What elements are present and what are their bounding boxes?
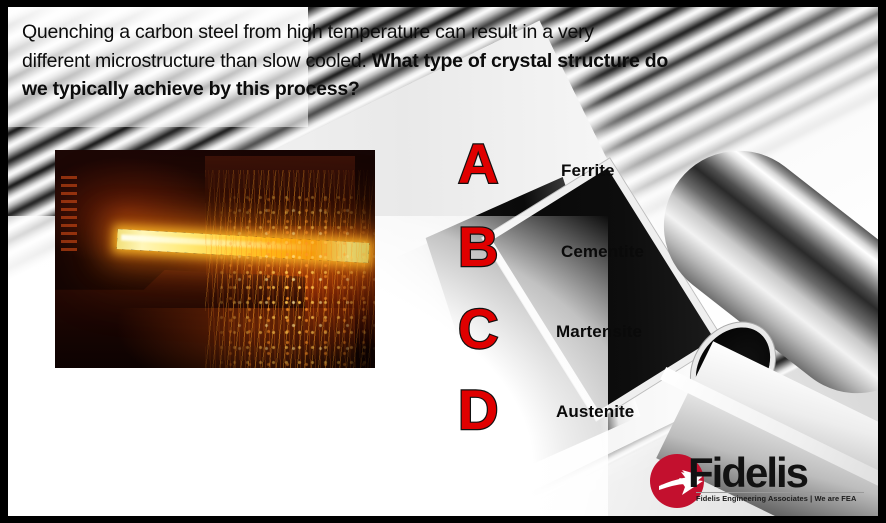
option-letter-d: D <box>458 382 498 438</box>
option-answer-c: Martensite <box>556 322 642 342</box>
question-line-2-bold: What type of crystal structure do <box>372 50 668 72</box>
presentation-slide: Quenching a carbon steel from high tempe… <box>0 0 886 523</box>
option-letter-b: B <box>458 219 498 275</box>
quenching-photo <box>55 150 375 368</box>
question-line-2-regular: different microstructure than slow coole… <box>22 50 372 72</box>
logo-tagline: Fidelis Engineering Associates | We are … <box>696 494 856 503</box>
slide-canvas: Quenching a carbon steel from high tempe… <box>8 7 878 516</box>
logo-wordmark: Fidelis <box>688 450 807 496</box>
photo-chain <box>61 176 77 252</box>
option-letter-a: A <box>458 136 498 192</box>
option-letter-c: C <box>458 301 498 357</box>
question-line-1: Quenching a carbon steel from high tempe… <box>22 21 594 43</box>
option-answer-a: Ferrite <box>561 161 615 181</box>
question-line-3-bold: we typically achieve by this process? <box>22 78 360 100</box>
option-answer-d: Austenite <box>556 402 634 422</box>
question-text: Quenching a carbon steel from high tempe… <box>22 18 858 104</box>
photo-sparks <box>215 190 375 368</box>
background-white-base <box>8 366 478 516</box>
logo-divider <box>696 492 864 493</box>
fidelis-logo: Fidelis Fidelis Engineering Associates |… <box>650 446 868 510</box>
option-answer-b: Cementite <box>561 242 644 262</box>
